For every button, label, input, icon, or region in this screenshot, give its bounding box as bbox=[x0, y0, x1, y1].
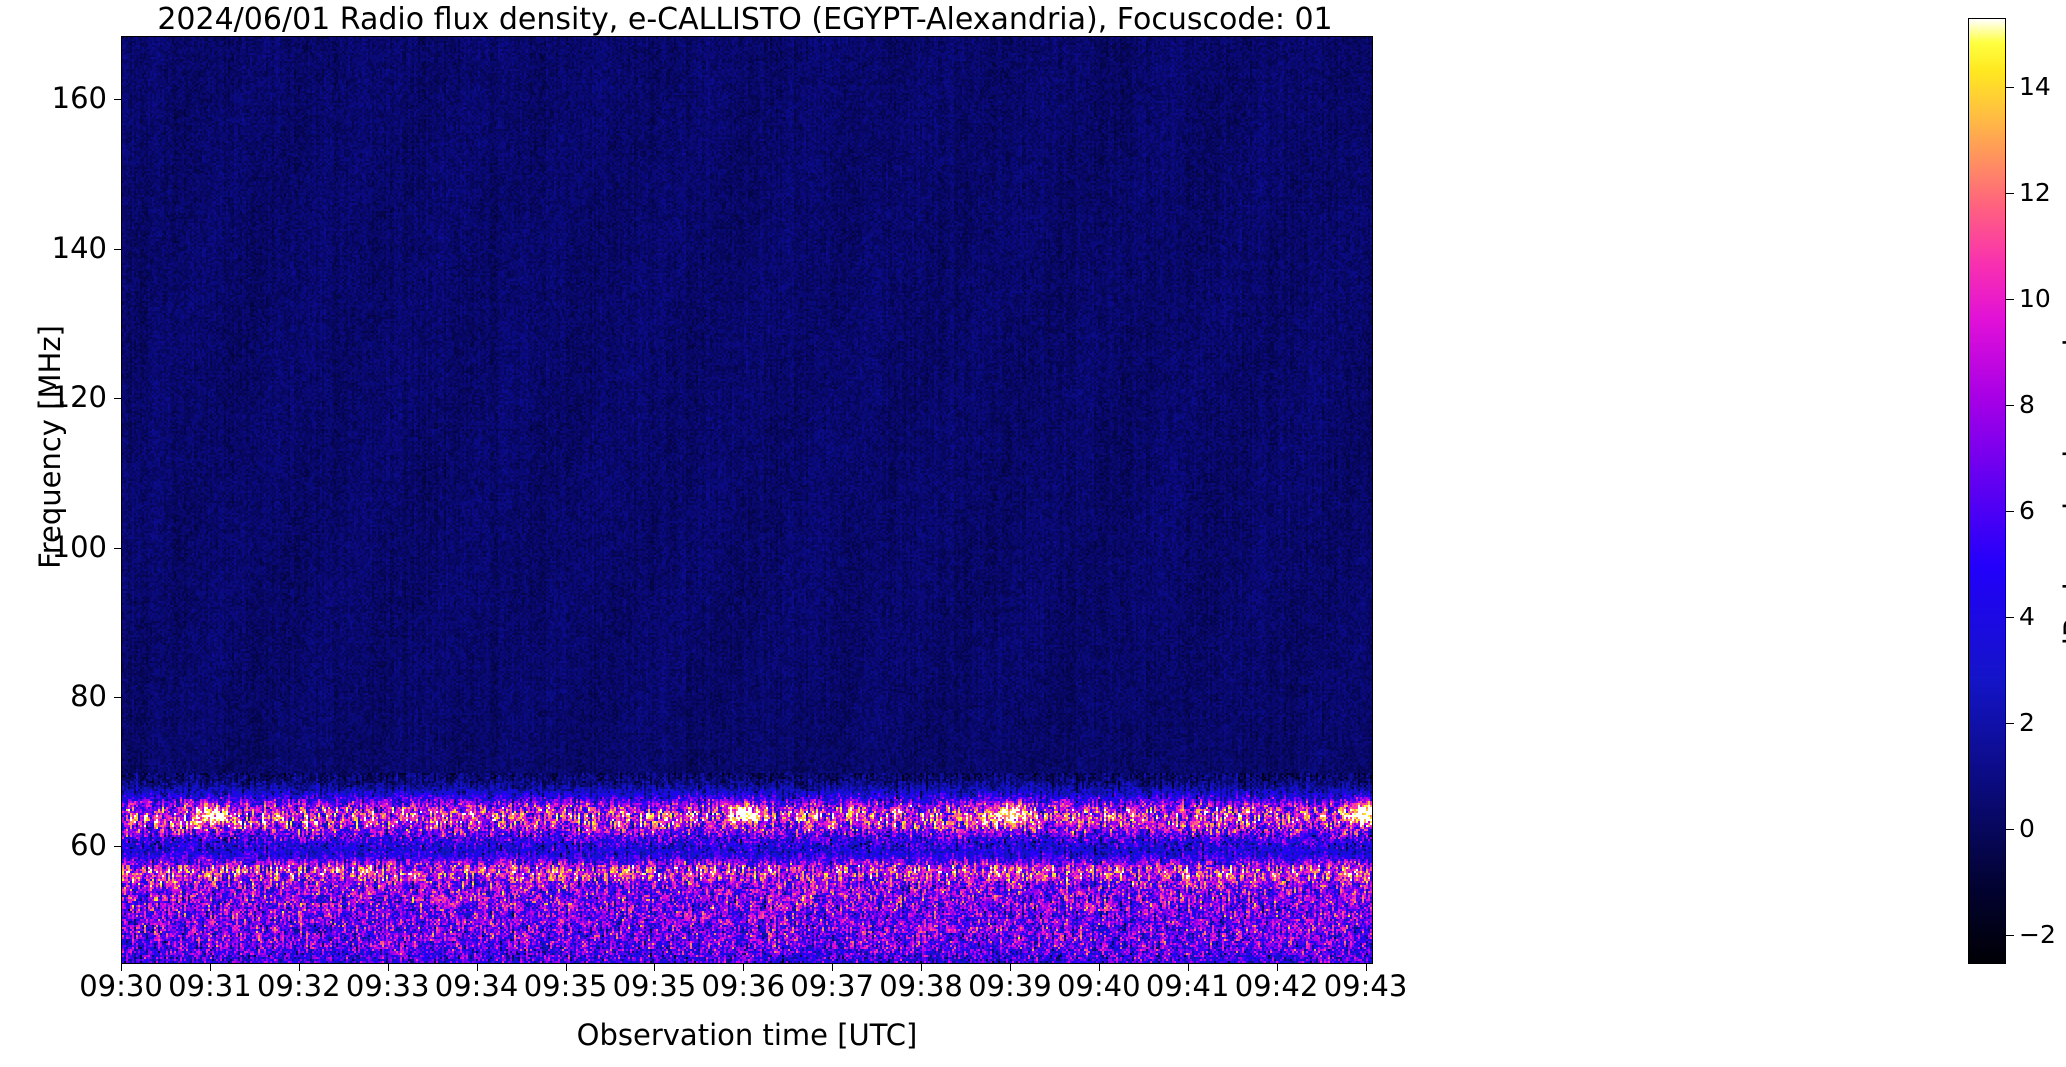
colorbar-tick-label: 8 bbox=[2019, 392, 2035, 417]
y-axis-tick-mark bbox=[114, 846, 122, 847]
colorbar-tick-label: 14 bbox=[2019, 74, 2051, 99]
colorbar-tick-label: 4 bbox=[2019, 604, 2035, 629]
colorbar-tick-mark bbox=[2006, 829, 2014, 830]
x-axis-tick-mark bbox=[1099, 963, 1100, 971]
x-axis-tick-mark bbox=[1010, 963, 1011, 971]
x-axis-label: Observation time [UTC] bbox=[121, 1018, 1373, 1052]
spectrogram-image bbox=[122, 37, 1372, 963]
colorbar-tick-mark bbox=[2006, 511, 2014, 512]
y-axis-tick-mark bbox=[114, 249, 122, 250]
colorbar-tick-label: 2 bbox=[2019, 710, 2035, 735]
x-axis-tick-mark bbox=[299, 963, 300, 971]
colorbar-tick-label: 6 bbox=[2019, 498, 2035, 523]
colorbar-tick-mark bbox=[2006, 299, 2014, 300]
x-axis-tick-mark bbox=[921, 963, 922, 971]
colorbar-tick-mark bbox=[2006, 87, 2014, 88]
colorbar-gradient bbox=[1969, 19, 2005, 963]
y-axis-tick-label: 160 bbox=[52, 84, 107, 113]
y-axis-tick-label: 140 bbox=[52, 234, 107, 263]
page-title: 2024/06/01 Radio flux density, e-CALLIST… bbox=[0, 2, 1490, 37]
y-axis-tick-label: 120 bbox=[52, 383, 107, 412]
y-axis-tick-mark bbox=[114, 398, 122, 399]
colorbar-tick-label: 0 bbox=[2019, 816, 2035, 841]
y-axis-tick-label: 80 bbox=[70, 682, 107, 711]
colorbar-tick-label: −2 bbox=[2019, 922, 2056, 947]
x-axis-tick-mark bbox=[1366, 963, 1367, 971]
y-axis-tick-mark bbox=[114, 697, 122, 698]
x-axis-tick-mark bbox=[121, 963, 122, 971]
x-axis-tick-label: 09:43 bbox=[1286, 972, 1446, 1001]
colorbar bbox=[1968, 18, 2006, 964]
colorbar-tick-mark bbox=[2006, 617, 2014, 618]
x-axis-tick-mark bbox=[832, 963, 833, 971]
y-axis-tick-label: 60 bbox=[70, 831, 107, 860]
colorbar-tick-mark bbox=[2006, 723, 2014, 724]
x-axis-tick-mark bbox=[566, 963, 567, 971]
x-axis-tick-mark bbox=[477, 963, 478, 971]
y-axis-tick-mark bbox=[114, 548, 122, 549]
x-axis-tick-mark bbox=[743, 963, 744, 971]
colorbar-tick-mark bbox=[2006, 405, 2014, 406]
y-axis-label: Frequency [MHz] bbox=[33, 247, 67, 647]
x-axis-tick-mark bbox=[1277, 963, 1278, 971]
x-axis-tick-mark bbox=[1188, 963, 1189, 971]
colorbar-tick-label: 10 bbox=[2019, 286, 2051, 311]
colorbar-label: dB above background bbox=[2058, 287, 2066, 707]
y-axis-tick-label: 100 bbox=[52, 533, 107, 562]
x-axis-tick-mark bbox=[388, 963, 389, 971]
y-axis-tick-mark bbox=[114, 99, 122, 100]
colorbar-tick-mark bbox=[2006, 193, 2014, 194]
x-axis-tick-mark bbox=[210, 963, 211, 971]
x-axis-tick-mark bbox=[654, 963, 655, 971]
colorbar-tick-mark bbox=[2006, 935, 2014, 936]
colorbar-tick-label: 12 bbox=[2019, 180, 2051, 205]
spectrogram-plot-area bbox=[121, 36, 1373, 964]
